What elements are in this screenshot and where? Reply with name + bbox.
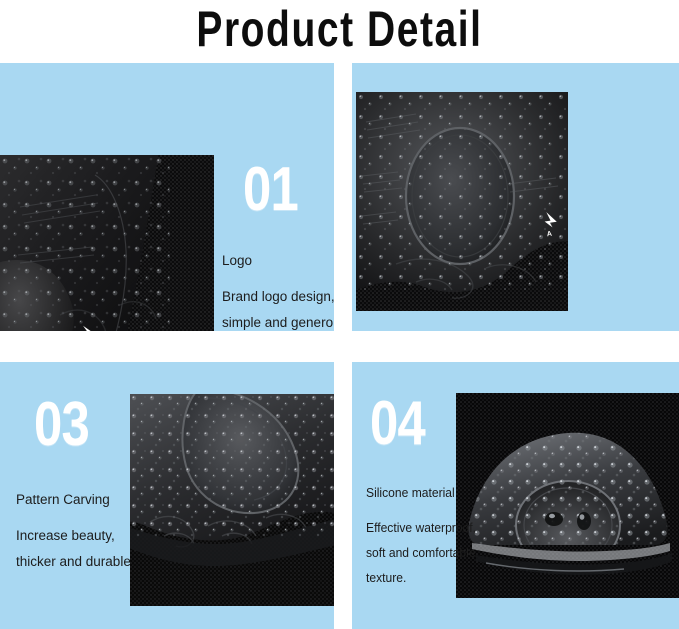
feature-panel-04: 04 Silicone material Effective waterproo… bbox=[352, 362, 679, 629]
page-title: Product Detail bbox=[196, 4, 482, 54]
feature-body-line: texture. bbox=[366, 568, 487, 587]
page-header: Product Detail bbox=[0, 0, 679, 58]
feature-image-01: ALEPO bbox=[0, 155, 214, 331]
feature-number-03: 03 bbox=[34, 394, 89, 456]
feature-body-line: soft and comfortable bbox=[366, 543, 487, 562]
feature-panel-02: A 02 3D Ear Pockets Prevent overpressure… bbox=[352, 63, 679, 331]
feature-body-04: Effective waterproof, soft and comfortab… bbox=[366, 518, 487, 587]
feature-number-01: 01 bbox=[243, 159, 298, 221]
feature-text-04: Silicone material Effective waterproof, … bbox=[366, 483, 487, 593]
feature-text-03: Pattern Carving Increase beauty, thicker… bbox=[16, 490, 176, 578]
product-detail-page: Product Detail bbox=[0, 0, 679, 629]
feature-image-04 bbox=[456, 393, 679, 598]
feature-body-line: Increase beauty, bbox=[16, 526, 176, 546]
svg-text:A: A bbox=[546, 231, 552, 239]
feature-text-01: Logo Brand logo design, simple and gener… bbox=[222, 251, 334, 331]
feature-image-02: A bbox=[356, 92, 568, 311]
feature-body-line: thicker and durable. bbox=[16, 552, 176, 572]
feature-body-01: Brand logo design, simple and generous. bbox=[222, 287, 334, 331]
feature-panel-03: 03 Pattern Carving Increase beauty, thic… bbox=[0, 362, 334, 629]
feature-body-line: simple and generous. bbox=[222, 313, 334, 331]
feature-body-line: Effective waterproof, bbox=[366, 518, 487, 537]
feature-heading-04: Silicone material bbox=[366, 483, 487, 502]
feature-heading-03: Pattern Carving bbox=[16, 490, 176, 510]
feature-number-04: 04 bbox=[370, 393, 425, 455]
feature-panel-01: ALEPO 01 Logo Brand logo design, simple … bbox=[0, 63, 334, 331]
feature-body-03: Increase beauty, thicker and durable. bbox=[16, 526, 176, 572]
feature-body-line: Brand logo design, bbox=[222, 287, 334, 307]
feature-heading-01: Logo bbox=[222, 251, 334, 271]
